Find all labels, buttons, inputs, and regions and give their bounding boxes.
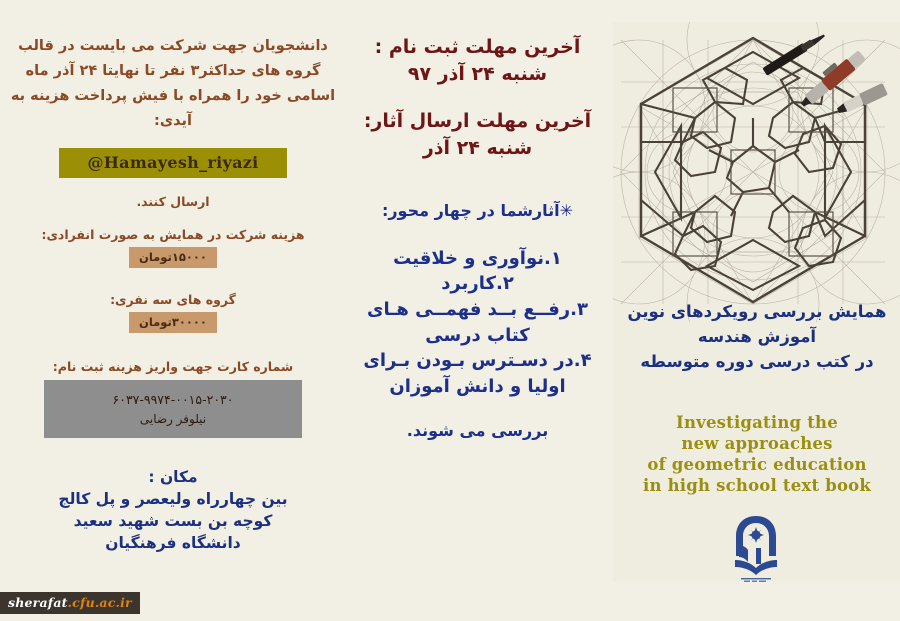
- drafting-pens-photo: [738, 24, 898, 134]
- fee-individual-label: هزینه شرکت در همایش به صورت انفرادی:: [8, 227, 338, 242]
- registration-deadline-label: آخرین مهلت ثبت نام :: [345, 36, 610, 60]
- conference-title-persian: همایش بررسی رویکردهای نوین آموزش هندسه د…: [617, 300, 897, 374]
- telegram-handle-box[interactable]: @Hamayesh_riyazi: [59, 148, 287, 178]
- submission-deadline: آخرین مهلت ارسال آثار: شنبه ۲۴ آذر: [345, 110, 610, 160]
- watermark: sherafat.cfu.ac.ir: [0, 592, 140, 614]
- card-number-value: ۶۰۳۷-۹۹۷۴-۰۰۱۵-۲۰۳۰: [113, 392, 234, 407]
- fee-group-box: ۳۰۰۰۰تومان: [129, 312, 217, 333]
- title-en-line-1: Investigating the: [617, 412, 897, 433]
- fee-group-group: گروه های سه نفری: ۳۰۰۰۰تومان: [8, 292, 338, 333]
- poster-canvas: دانشجویان جهت شرکت می بایست در قالب گروه…: [0, 0, 900, 621]
- left-column: دانشجویان جهت شرکت می بایست در قالب گروه…: [8, 34, 338, 554]
- send-instruction-text: ارسال کنند.: [8, 194, 338, 209]
- watermark-domain: .cfu.ac.ir: [68, 595, 132, 610]
- fee-group-amount: ۳۰۰۰۰تومان: [139, 315, 207, 329]
- fee-individual-group: هزینه شرکت در همایش به صورت انفرادی: ۱۵۰…: [8, 227, 338, 268]
- farhangian-university-logo: [725, 512, 787, 584]
- axes-item-4-cont: اولیا و دانش آموزان: [345, 374, 610, 400]
- submission-deadline-value: شنبه ۲۴ آذر: [345, 136, 610, 161]
- location-block: مکان : بین چهارراه ولیعصر و پل کالج کوچه…: [8, 466, 338, 554]
- axes-item-4: ۴.در دسـترس بـودن بـرای: [345, 348, 610, 374]
- axes-item-2: ۲.کاربرد: [345, 271, 610, 297]
- card-holder-name: نیلوفر رضایی: [140, 412, 206, 426]
- closing-line: بررسی می شوند.: [345, 421, 610, 440]
- telegram-handle-text: @Hamayesh_riyazi: [87, 153, 258, 172]
- card-number-box: ۶۰۳۷-۹۹۷۴-۰۰۱۵-۲۰۳۰ نیلوفر رضایی: [44, 380, 302, 438]
- axes-item-1: ۱.نوآوری و خلاقیت: [345, 246, 610, 272]
- location-line-2: کوچه بن بست شهید سعید: [8, 510, 338, 532]
- location-line-1: بین چهارراه ولیعصر و پل کالج: [8, 488, 338, 510]
- fee-individual-amount: ۱۵۰۰۰تومان: [139, 250, 207, 264]
- submission-deadline-label: آخرین مهلت ارسال آثار:: [345, 110, 610, 134]
- title-en-line-4: in high school text book: [617, 475, 897, 496]
- fee-group-label: گروه های سه نفری:: [8, 292, 338, 307]
- registration-deadline: آخرین مهلت ثبت نام : شنبه ۲۴ آذر ۹۷: [345, 36, 610, 86]
- title-en-line-2: new approaches: [617, 433, 897, 454]
- title-en-line-3: of geometric education: [617, 454, 897, 475]
- axes-list: ۱.نوآوری و خلاقیت ۲.کاربرد ۳.رفــع بــد …: [345, 246, 610, 399]
- title-fa-line-3: در کتب درسی دوره متوسطه: [617, 350, 897, 375]
- axes-item-3: ۳.رفــع بــد فهمــی هـای: [345, 297, 610, 323]
- location-heading: مکان :: [8, 466, 338, 488]
- axes-item-3-cont: کتاب درسی: [345, 323, 610, 349]
- intro-paragraph: دانشجویان جهت شرکت می بایست در قالب گروه…: [8, 34, 338, 134]
- registration-deadline-value: شنبه ۲۴ آذر ۹۷: [345, 62, 610, 87]
- title-fa-line-2: آموزش هندسه: [617, 325, 897, 350]
- watermark-name: sherafat: [8, 595, 68, 610]
- axes-heading: ✳آثارشما در چهار محور:: [345, 201, 610, 220]
- title-fa-line-1: همایش بررسی رویکردهای نوین: [617, 300, 897, 325]
- card-number-label: شماره کارت جهت واریز هزینه ثبت نام:: [8, 359, 338, 374]
- middle-column: آخرین مهلت ثبت نام : شنبه ۲۴ آذر ۹۷ آخری…: [345, 36, 610, 440]
- conference-title-english: Investigating the new approaches of geom…: [617, 412, 897, 496]
- location-line-3: دانشگاه فرهنگیان: [8, 532, 338, 554]
- fee-individual-box: ۱۵۰۰۰تومان: [129, 247, 217, 268]
